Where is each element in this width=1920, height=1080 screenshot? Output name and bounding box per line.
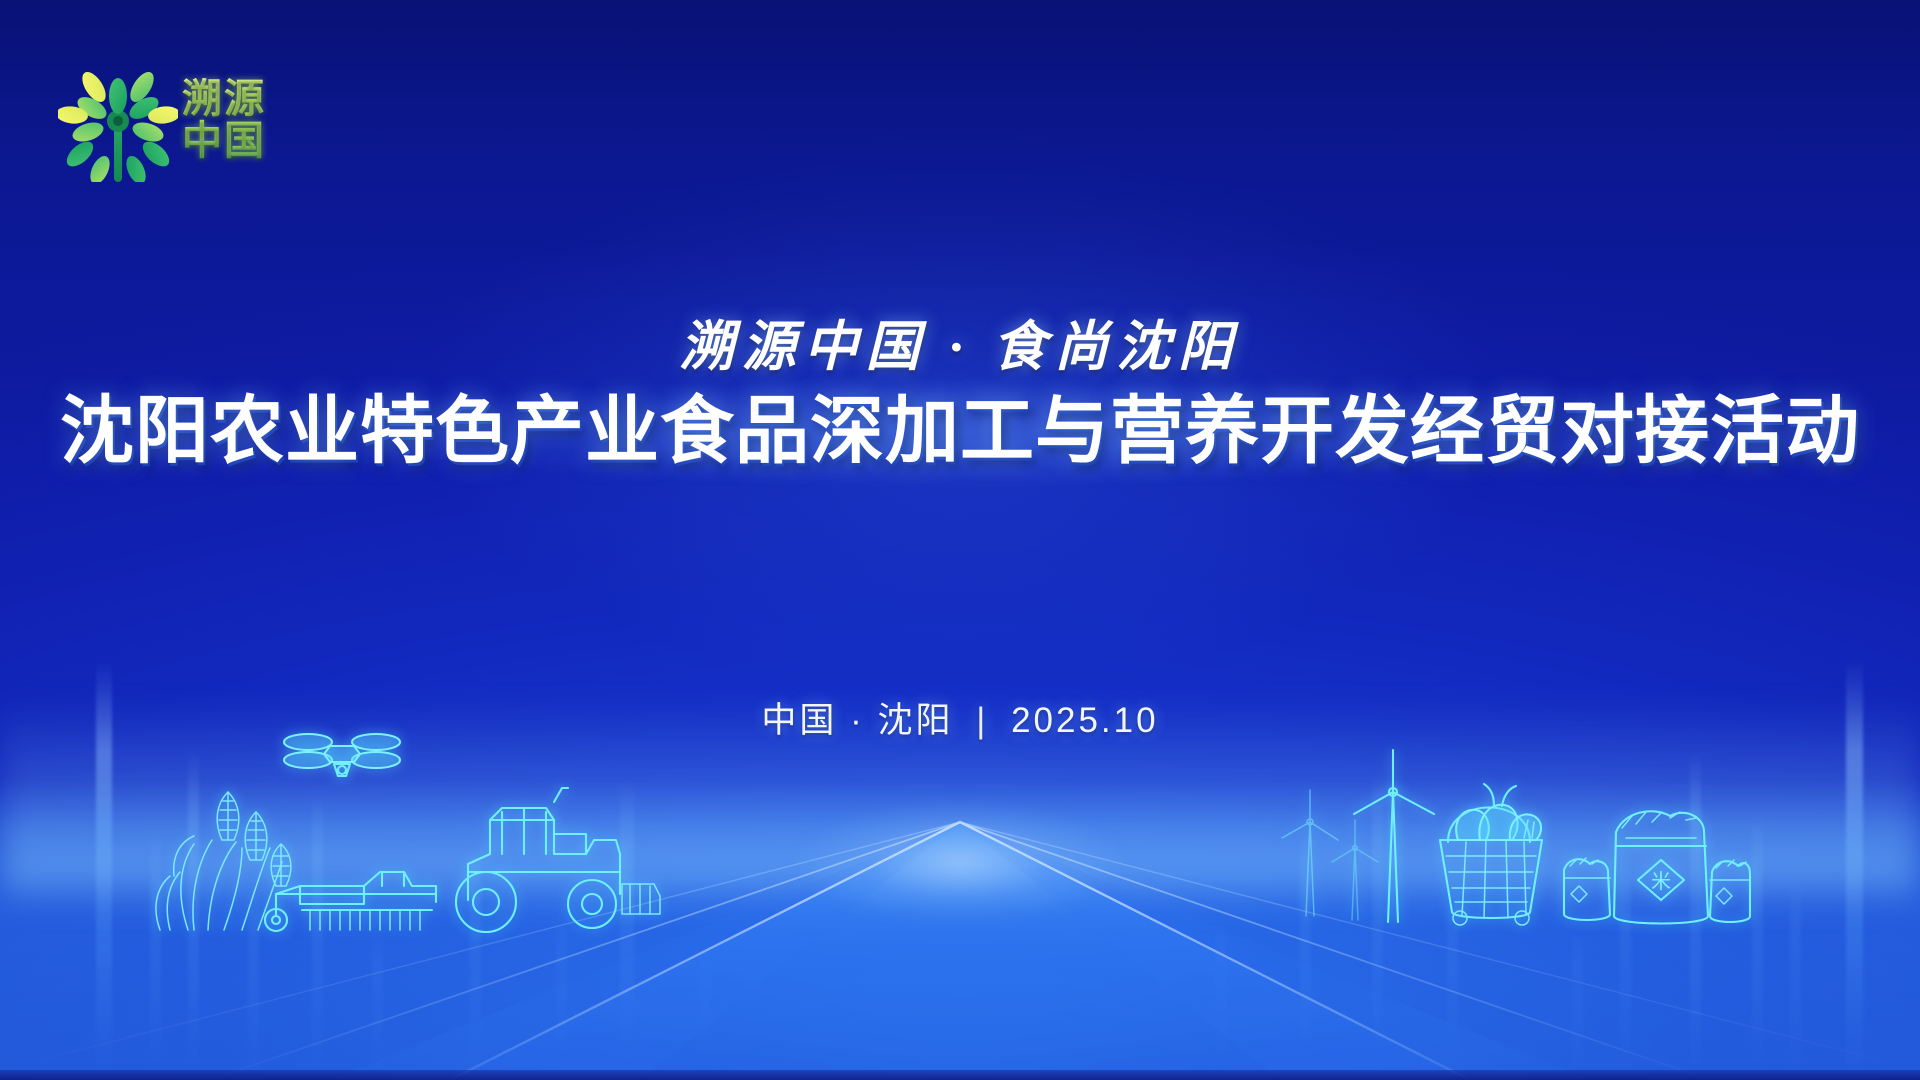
- brand-logo-text: 溯源 中国: [182, 78, 292, 161]
- poster-canvas: 米: [0, 0, 1920, 1080]
- brand-logo-line-1: 溯源: [182, 78, 292, 120]
- brand-logo-line-2: 中国: [182, 120, 292, 162]
- event-location: 中国 · 沈阳: [761, 701, 953, 740]
- event-date: 2025.10: [1011, 701, 1159, 740]
- bottom-edge-strip: [0, 1070, 1920, 1080]
- event-meta-separator: |: [976, 701, 988, 740]
- event-headline: 沈阳农业特色产业食品深加工与营养开发经贸对接活动: [60, 392, 1860, 470]
- horizon-vanishing-glow: [750, 782, 1170, 942]
- sprout-leaves-logo-icon: [58, 58, 178, 182]
- event-meta: 中国 · 沈阳 | 2025.10: [0, 692, 1920, 743]
- brand-logo[interactable]: 溯源 中国: [58, 58, 288, 186]
- event-headline-block: 沈阳农业特色产业食品深加工与营养开发经贸对接活动: [0, 392, 1920, 470]
